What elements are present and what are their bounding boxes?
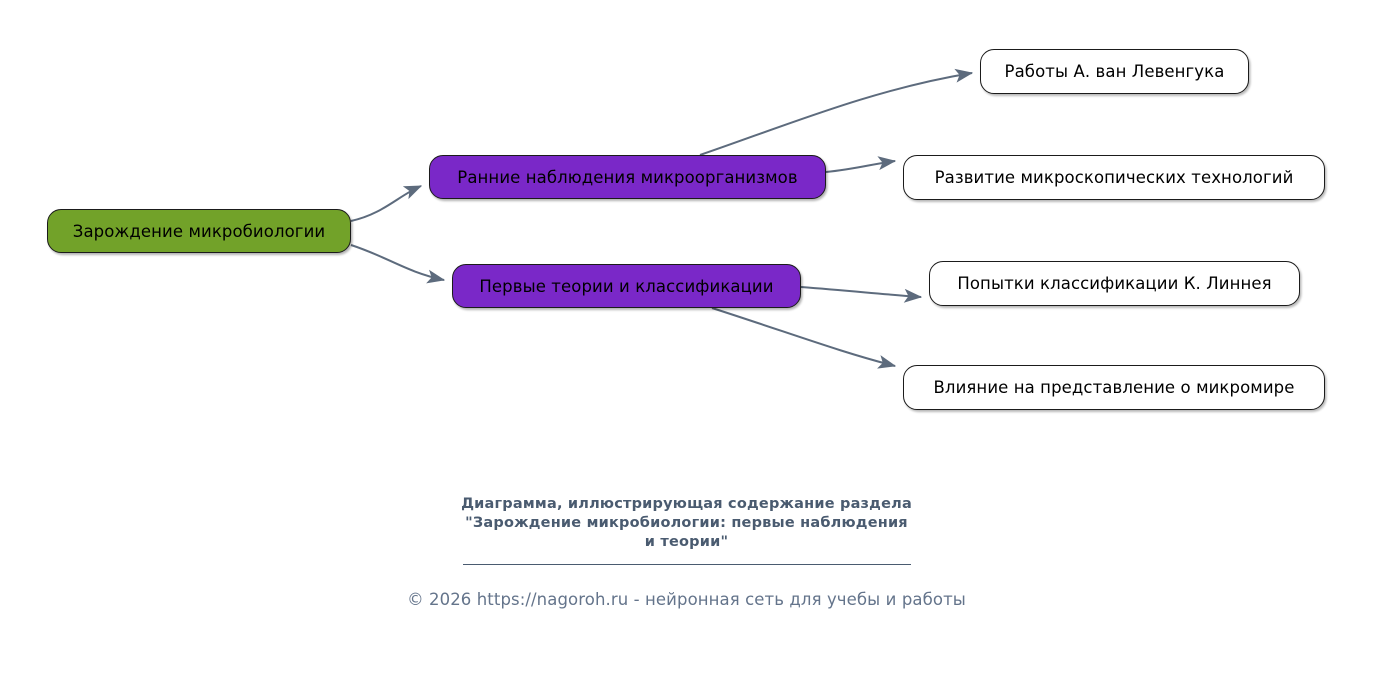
- footer-credit-text: © 2026 https://nagoroh.ru - нейронная се…: [407, 590, 966, 609]
- node-leaf-leeuwenhoek[interactable]: Работы А. ван Левенгука: [980, 49, 1249, 94]
- edge-first-theories-to-linnaeus: [801, 287, 921, 297]
- node-label: Влияние на представление о микромире: [934, 378, 1295, 397]
- node-label: Первые теории и классификации: [479, 277, 773, 296]
- node-label: Развитие микроскопических технологий: [935, 168, 1294, 187]
- edge-early-observations-to-leeuwenhoek: [700, 73, 972, 155]
- node-label: Попытки классификации К. Линнея: [957, 274, 1271, 293]
- caption-line-3: и теории": [0, 533, 1373, 552]
- edge-early-observations-to-microscope-tech: [826, 161, 895, 172]
- node-branch-early-observations[interactable]: Ранние наблюдения микроорганизмов: [429, 155, 826, 199]
- edge-layer: [0, 0, 1373, 685]
- edge-root-to-early-observations: [351, 186, 421, 221]
- node-leaf-micro-world-impact[interactable]: Влияние на представление о микромире: [903, 365, 1325, 410]
- node-root-zarozhdenie-mikrobiologii[interactable]: Зарождение микробиологии: [47, 209, 351, 253]
- node-leaf-microscope-technologies[interactable]: Развитие микроскопических технологий: [903, 155, 1325, 200]
- mindmap-diagram: Зарождение микробиологии Ранние наблюден…: [0, 0, 1373, 685]
- edge-root-to-first-theories: [351, 245, 444, 280]
- node-label: Ранние наблюдения микроорганизмов: [457, 168, 797, 187]
- caption-divider: [463, 564, 911, 565]
- caption-line-1: Диаграмма, иллюстрирующая содержание раз…: [0, 495, 1373, 514]
- node-label: Работы А. ван Левенгука: [1005, 62, 1225, 81]
- node-branch-first-theories[interactable]: Первые теории и классификации: [452, 264, 801, 308]
- diagram-caption: Диаграмма, иллюстрирующая содержание раз…: [0, 495, 1373, 565]
- node-label: Зарождение микробиологии: [73, 222, 325, 241]
- node-leaf-linnaeus-classification[interactable]: Попытки классификации К. Линнея: [929, 261, 1300, 306]
- caption-line-2: "Зарождение микробиологии: первые наблюд…: [0, 514, 1373, 533]
- footer-credit: © 2026 https://nagoroh.ru - нейронная се…: [0, 590, 1373, 609]
- edge-first-theories-to-micro-world-impact: [712, 308, 895, 366]
